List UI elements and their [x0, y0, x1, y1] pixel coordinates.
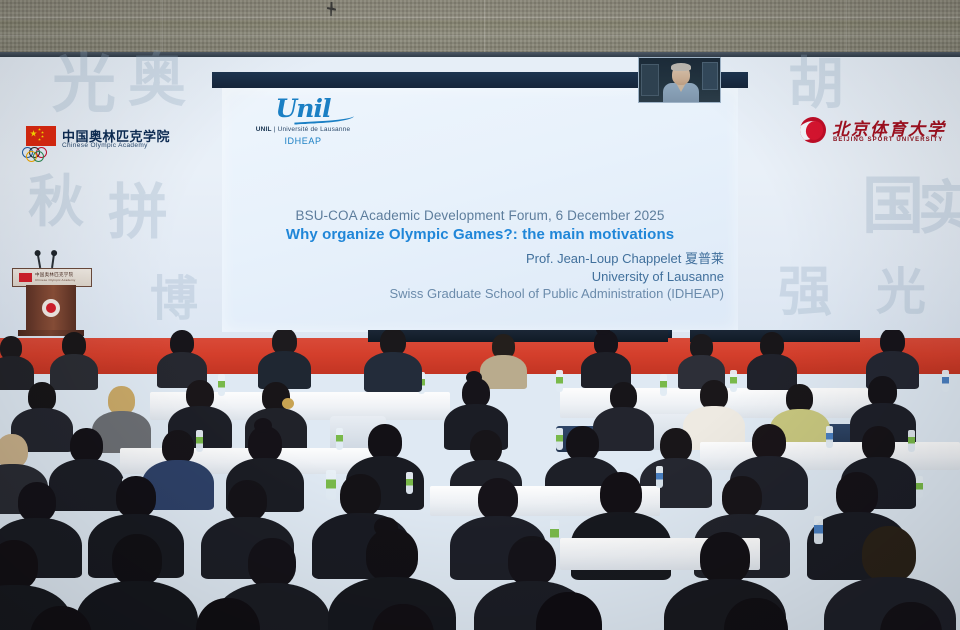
- water-bottle: [218, 374, 225, 396]
- slide-title: Why organize Olympic Games?: the main mo…: [236, 226, 724, 243]
- unil-script-wordmark: Unil: [238, 96, 368, 121]
- presentation-slide: Unil UNIL | Université de Lausanne IDHEA…: [222, 88, 738, 332]
- slide-school: Swiss Graduate School of Public Administ…: [236, 286, 724, 301]
- coa-english-name: Chinese Olympic Academy: [62, 142, 148, 149]
- projection-screen: Unil UNIL | Université de Lausanne IDHEA…: [212, 72, 748, 332]
- unil-swash-icon: [294, 112, 354, 124]
- water-bottle: [660, 374, 667, 396]
- audience-area: [0, 330, 960, 630]
- bsu-english-name: BEIJING SPORT UNIVERSITY: [833, 137, 943, 143]
- beijing-sport-university-logo: 北京体育大学 BEIJING SPORT UNIVERSITY: [800, 114, 940, 150]
- water-bottle: [916, 476, 923, 498]
- video-speaker-hair: [671, 63, 691, 71]
- slide-forum-line: BSU-COA Academic Development Forum, 6 De…: [236, 208, 724, 223]
- unil-idheap-label: IDHEAP: [238, 136, 368, 146]
- water-bottle: [406, 472, 413, 494]
- slide-presenter: Prof. Jean-Loup Chappelet 夏普莱: [236, 248, 724, 267]
- podium-plate-english: Chinese Olympic Academy: [35, 278, 75, 282]
- wall-ghost-char: 拼: [108, 183, 168, 243]
- remote-speaker-video-inset: [638, 57, 721, 103]
- unil-abbrev: UNIL: [256, 126, 272, 133]
- water-bottle: [556, 370, 563, 392]
- water-bottle: [826, 426, 833, 448]
- olympic-rings-icon: [22, 146, 62, 160]
- speaker-podium: 中国奥林匹克学院 Chinese Olympic Academy: [12, 262, 90, 336]
- wall-ghost-char: 光: [52, 53, 116, 117]
- video-room-panel-right: [702, 62, 718, 90]
- video-room-panel-left: [641, 64, 659, 96]
- water-bottle: [908, 430, 915, 452]
- water-bottle: [656, 466, 663, 488]
- water-bottle: [196, 430, 203, 452]
- chinese-olympic-academy-logo: 中国奥林匹克学院 Chinese Olympic Academy: [20, 126, 170, 160]
- wall-ghost-char: 光: [876, 267, 926, 317]
- water-bottle: [336, 428, 343, 450]
- wall-ghost-char: 胡: [788, 57, 844, 113]
- slide-text-block: BSU-COA Academic Development Forum, 6 De…: [236, 208, 724, 301]
- water-bottle: [814, 516, 823, 544]
- wall-ghost-char: 实: [918, 179, 960, 237]
- wall-ghost-char: 博: [150, 275, 198, 323]
- wall-ghost-char: 奥: [128, 51, 186, 109]
- water-bottle: [556, 428, 563, 450]
- unil-logo: Unil UNIL | Université de Lausanne IDHEA…: [238, 96, 368, 146]
- conference-photo: 光 奥 秋 拼 胡 国 实 强 光 博 中国奥林匹克学院 Chinese Oly…: [0, 0, 960, 630]
- unil-subtitle: UNIL | Université de Lausanne: [238, 126, 368, 133]
- ceiling-bracket-icon: [327, 2, 336, 16]
- podium-seal-icon: [42, 299, 60, 317]
- water-bottle: [550, 520, 559, 548]
- water-bottle: [942, 370, 949, 392]
- unil-fullname: Université de Lausanne: [278, 126, 351, 133]
- slide-affiliation: University of Lausanne: [236, 269, 724, 284]
- bsu-swirl-icon: [800, 117, 826, 143]
- wall-ghost-char: 强: [778, 265, 832, 319]
- wall-ghost-char: 国: [862, 175, 924, 237]
- podium-flag-icon: [19, 273, 32, 282]
- water-bottle: [326, 470, 336, 500]
- china-flag-icon: [26, 126, 56, 146]
- wall-ghost-char: 秋: [28, 175, 84, 231]
- water-bottle: [730, 370, 737, 392]
